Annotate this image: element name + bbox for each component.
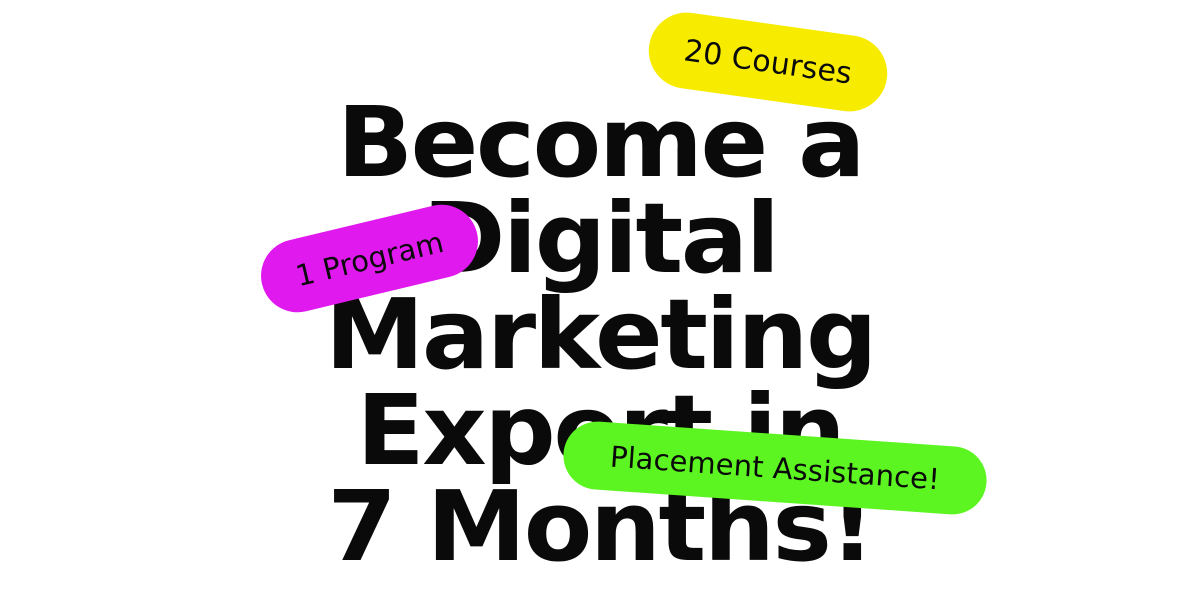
headline-line-5: 7 Months! xyxy=(0,479,1200,575)
badge-program-label: 1 Program xyxy=(292,224,447,292)
badge-placement-label: Placement Assistance! xyxy=(609,440,941,497)
badge-courses-label: 20 Courses xyxy=(682,33,854,91)
page-title: Become a Digital Marketing Expert in 7 M… xyxy=(0,95,1200,575)
headline-line-1: Become a xyxy=(0,95,1200,191)
headline-line-2: Digital xyxy=(0,191,1200,287)
hero-banner: Become a Digital Marketing Expert in 7 M… xyxy=(0,0,1200,600)
headline-line-3: Marketing xyxy=(0,287,1200,383)
